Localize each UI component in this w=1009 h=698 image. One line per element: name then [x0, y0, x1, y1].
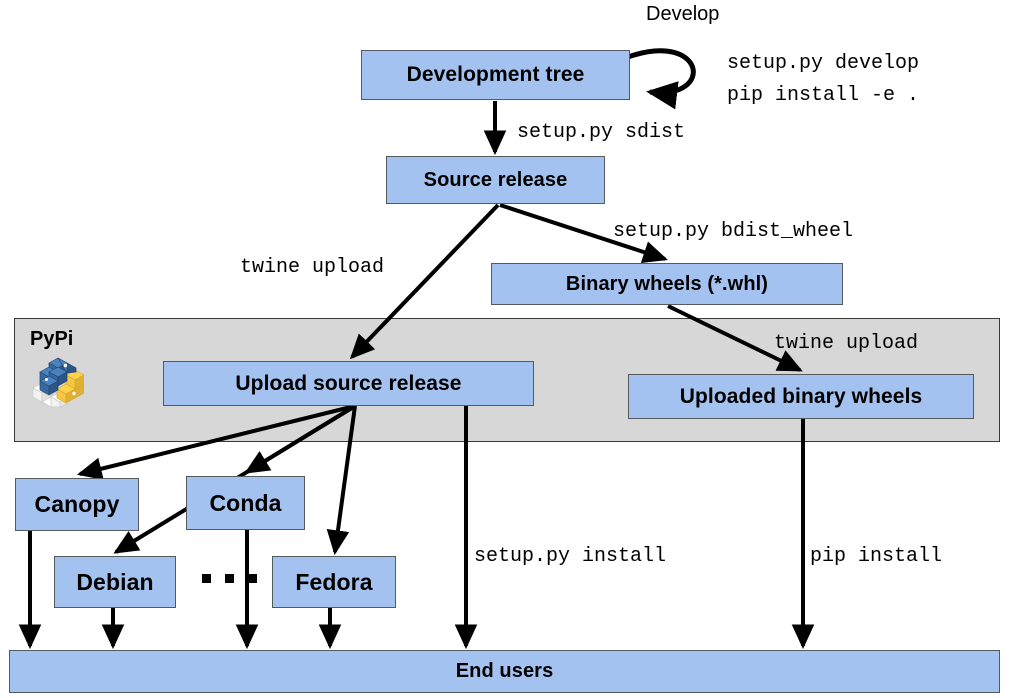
arrow-upload-source-to-canopy [80, 406, 355, 474]
edge-label-pip-install: pip install [810, 545, 942, 568]
diagram-canvas: PyPi [0, 0, 1009, 698]
more-distros-ellipsis [202, 574, 257, 583]
edge-label-twine-upload-wheels: twine upload [774, 332, 918, 355]
node-upload-source-release[interactable]: Upload source release [163, 361, 534, 406]
node-end-users[interactable]: End users [9, 650, 1000, 693]
arrow-upload-source-to-fedora [335, 406, 355, 552]
node-development-tree[interactable]: Development tree [361, 50, 630, 100]
edge-label-develop: Develop [646, 3, 719, 26]
edge-label-setup-py-develop: setup.py develop [727, 52, 919, 75]
edge-label-twine-upload-source: twine upload [240, 256, 384, 279]
ellipsis-dot [225, 574, 234, 583]
node-uploaded-binary-wheels[interactable]: Uploaded binary wheels [628, 374, 974, 419]
arrow-develop-self-loop [628, 51, 693, 93]
node-debian[interactable]: Debian [54, 556, 176, 608]
edge-label-setup-py-install: setup.py install [474, 545, 666, 568]
node-binary-wheels[interactable]: Binary wheels (*.whl) [491, 263, 843, 305]
arrow-source-release-to-upload-source [352, 205, 498, 357]
node-fedora[interactable]: Fedora [272, 556, 396, 608]
ellipsis-dot [202, 574, 211, 583]
node-canopy[interactable]: Canopy [15, 478, 139, 531]
ellipsis-dot [248, 574, 257, 583]
edge-label-setup-py-sdist: setup.py sdist [517, 121, 685, 144]
node-conda[interactable]: Conda [186, 476, 305, 530]
edge-label-pip-install-e: pip install -e . [727, 84, 919, 107]
node-source-release[interactable]: Source release [386, 156, 605, 204]
edge-label-setup-py-bdist-wheel: setup.py bdist_wheel [613, 220, 853, 243]
